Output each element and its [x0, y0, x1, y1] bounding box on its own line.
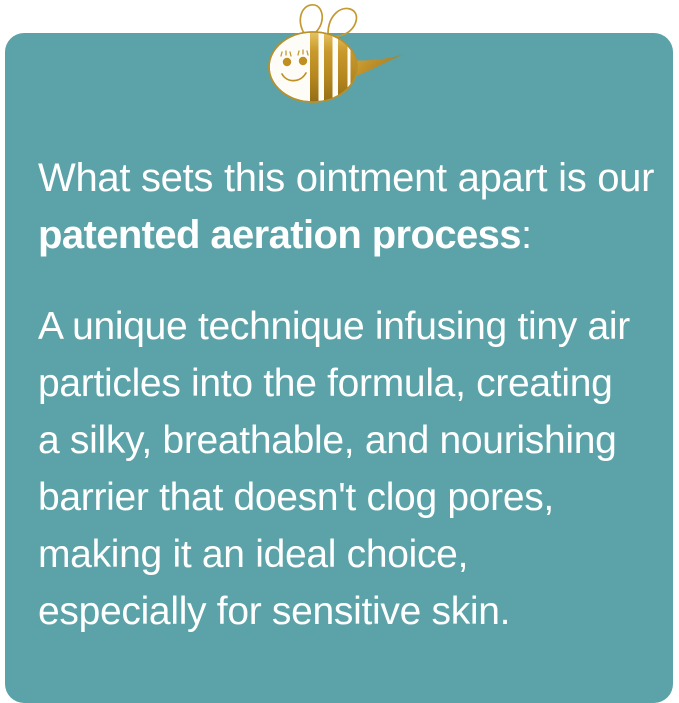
lede-line-2: patented aeration process:: [38, 207, 652, 264]
card-copy: What sets this ointment apart is our pat…: [38, 150, 652, 640]
body-line-3: a silky, breathable, and nourishing: [38, 412, 652, 469]
body-line-4: barrier that doesn't clog pores,: [38, 469, 652, 526]
body-line-5: making it an ideal choice,: [38, 526, 652, 583]
lede-emphasis: patented aeration process: [38, 213, 521, 257]
promo-card-canvas: What sets this ointment apart is our pat…: [0, 0, 679, 703]
lede-colon: :: [521, 213, 532, 257]
bee-icon: [258, 0, 414, 104]
body-line-6: especially for sensitive skin.: [38, 583, 652, 640]
body-paragraph: A unique technique infusing tiny air par…: [38, 298, 652, 640]
lede-line-1: What sets this ointment apart is our: [38, 150, 652, 207]
body-line-2: particles into the formula, creating: [38, 355, 652, 412]
copy-spacer: [38, 264, 652, 298]
body-line-1: A unique technique infusing tiny air: [38, 298, 652, 355]
